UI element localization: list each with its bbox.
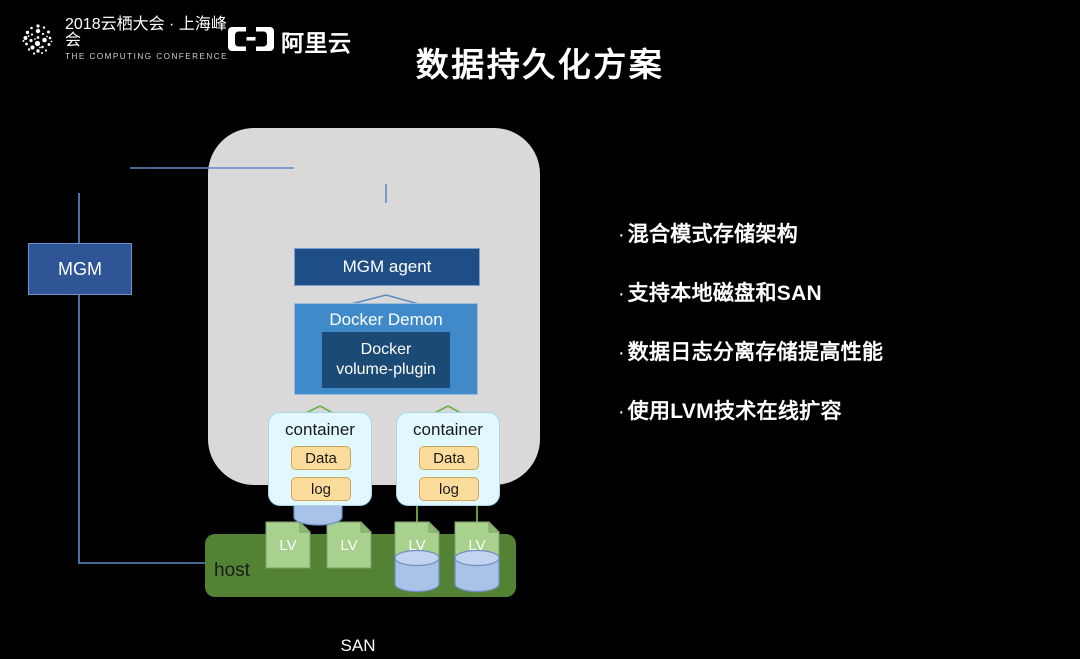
bullet-text: 混合模式存储架构 — [628, 222, 798, 248]
lv-shape-2 — [327, 522, 371, 568]
bullet-marker-icon: · — [618, 222, 625, 248]
page-title: 数据持久化方案 — [0, 38, 1080, 86]
local-disk-cylinder — [294, 482, 342, 525]
list-item: · 使用LVM技术在线扩容 — [618, 399, 1038, 425]
bullet-text: 支持本地磁盘和SAN — [628, 281, 822, 307]
list-item: · 混合模式存储架构 — [618, 222, 1038, 248]
bullet-marker-icon: · — [618, 281, 625, 307]
bullet-marker-icon: · — [618, 340, 625, 366]
host-region — [208, 128, 540, 485]
bullet-text: 数据日志分离存储提高性能 — [628, 340, 884, 366]
list-item: · 支持本地磁盘和SAN — [618, 281, 1038, 307]
list-item: · 数据日志分离存储提高性能 — [618, 340, 1038, 366]
bullet-text: 使用LVM技术在线扩容 — [628, 399, 842, 425]
san-disk-cylinder-1 — [395, 551, 439, 592]
architecture-diagram: MGM MGM agent Docker Demon Docker volume… — [0, 100, 600, 597]
header-bar: 2018云栖大会 · 上海峰会 THE COMPUTING CONFERENCE… — [0, 0, 1080, 100]
bullet-marker-icon: · — [618, 399, 625, 425]
san-disk-cylinder-2 — [455, 551, 499, 592]
san-label: SAN — [310, 633, 406, 659]
feature-bullet-list: · 混合模式存储架构 · 支持本地磁盘和SAN · 数据日志分离存储提高性能 ·… — [618, 222, 1038, 458]
lv-shape-1 — [266, 522, 310, 568]
